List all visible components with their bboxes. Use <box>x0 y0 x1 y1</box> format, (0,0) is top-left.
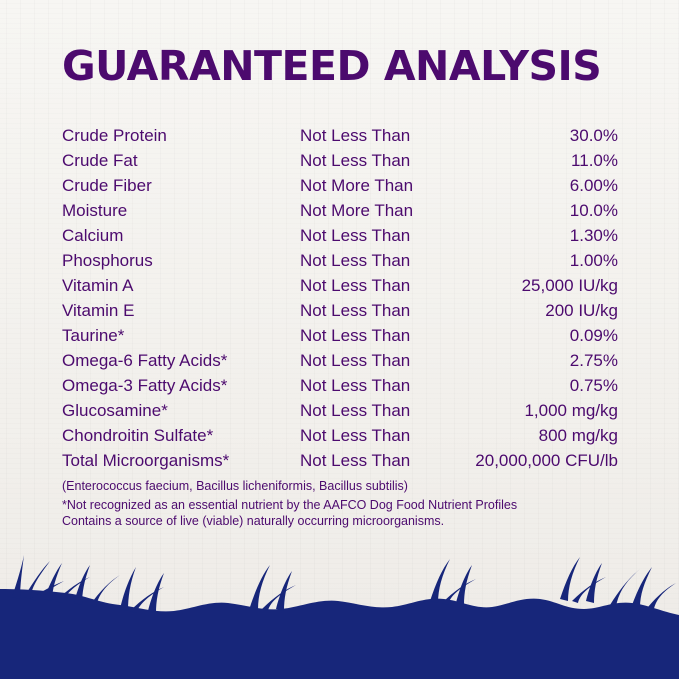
nutrient-qualifier: Not Less Than <box>300 226 465 246</box>
nutrient-value: 1.00% <box>465 251 618 271</box>
table-row: Calcium Not Less Than 1.30% <box>62 226 618 251</box>
nutrient-qualifier: Not Less Than <box>300 126 465 146</box>
footnote-aafco: *Not recognized as an essential nutrient… <box>62 497 517 513</box>
nutrient-qualifier: Not Less Than <box>300 251 465 271</box>
nutrient-qualifier: Not Less Than <box>300 301 465 321</box>
nutrient-value: 10.0% <box>465 201 618 221</box>
page-title: GUARANTEED ANALYSIS <box>62 46 622 87</box>
nutrient-name: Moisture <box>62 201 300 221</box>
nutrient-name: Calcium <box>62 226 300 246</box>
nutrient-qualifier: Not Less Than <box>300 351 465 371</box>
table-row: Crude Fat Not Less Than 11.0% <box>62 151 618 176</box>
nutrient-qualifier: Not Less Than <box>300 376 465 396</box>
guaranteed-analysis-panel: GUARANTEED ANALYSIS Crude Protein Not Le… <box>0 0 679 679</box>
nutrient-value: 30.0% <box>465 126 618 146</box>
nutrient-qualifier: Not Less Than <box>300 151 465 171</box>
nutrient-value: 25,000 IU/kg <box>465 276 618 296</box>
table-row: Omega-6 Fatty Acids* Not Less Than 2.75% <box>62 351 618 376</box>
nutrient-name: Vitamin E <box>62 301 300 321</box>
nutrient-qualifier: Not Less Than <box>300 426 465 446</box>
table-row: Vitamin A Not Less Than 25,000 IU/kg <box>62 276 618 301</box>
table-row: Crude Protein Not Less Than 30.0% <box>62 126 618 151</box>
nutrient-qualifier: Not Less Than <box>300 276 465 296</box>
nutrient-qualifier: Not Less Than <box>300 451 465 471</box>
nutrient-value: 1,000 mg/kg <box>465 401 618 421</box>
microorganism-strains-note: (Enterococcus faecium, Bacillus lichenif… <box>62 479 408 493</box>
nutrient-name: Crude Fat <box>62 151 300 171</box>
nutrient-value: 11.0% <box>465 151 618 171</box>
nutrient-value: 20,000,000 CFU/lb <box>465 451 618 471</box>
table-row: Chondroitin Sulfate* Not Less Than 800 m… <box>62 426 618 451</box>
table-row: Crude Fiber Not More Than 6.00% <box>62 176 618 201</box>
guaranteed-analysis-table: Crude Protein Not Less Than 30.0% Crude … <box>62 126 618 476</box>
nutrient-value: 2.75% <box>465 351 618 371</box>
nutrient-name: Omega-3 Fatty Acids* <box>62 376 300 396</box>
table-row: Taurine* Not Less Than 0.09% <box>62 326 618 351</box>
nutrient-name: Chondroitin Sulfate* <box>62 426 300 446</box>
table-row: Vitamin E Not Less Than 200 IU/kg <box>62 301 618 326</box>
nutrient-name: Taurine* <box>62 326 300 346</box>
table-row: Total Microorganisms* Not Less Than 20,0… <box>62 451 618 476</box>
nutrient-name: Glucosamine* <box>62 401 300 421</box>
table-row: Omega-3 Fatty Acids* Not Less Than 0.75% <box>62 376 618 401</box>
nutrient-qualifier: Not More Than <box>300 201 465 221</box>
nutrient-name: Phosphorus <box>62 251 300 271</box>
nutrient-value: 0.75% <box>465 376 618 396</box>
nutrient-qualifier: Not Less Than <box>300 401 465 421</box>
nutrient-name: Total Microorganisms* <box>62 451 300 471</box>
table-row: Glucosamine* Not Less Than 1,000 mg/kg <box>62 401 618 426</box>
table-row: Moisture Not More Than 10.0% <box>62 201 618 226</box>
nutrient-value: 6.00% <box>465 176 618 196</box>
nutrient-value: 0.09% <box>465 326 618 346</box>
nutrient-qualifier: Not Less Than <box>300 326 465 346</box>
table-row: Phosphorus Not Less Than 1.00% <box>62 251 618 276</box>
nutrient-qualifier: Not More Than <box>300 176 465 196</box>
nutrient-name: Crude Protein <box>62 126 300 146</box>
nutrient-name: Omega-6 Fatty Acids* <box>62 351 300 371</box>
nutrient-value: 1.30% <box>465 226 618 246</box>
grass-silhouette-graphic <box>0 519 679 679</box>
nutrient-value: 200 IU/kg <box>465 301 618 321</box>
nutrient-name: Vitamin A <box>62 276 300 296</box>
nutrient-name: Crude Fiber <box>62 176 300 196</box>
nutrient-value: 800 mg/kg <box>465 426 618 446</box>
